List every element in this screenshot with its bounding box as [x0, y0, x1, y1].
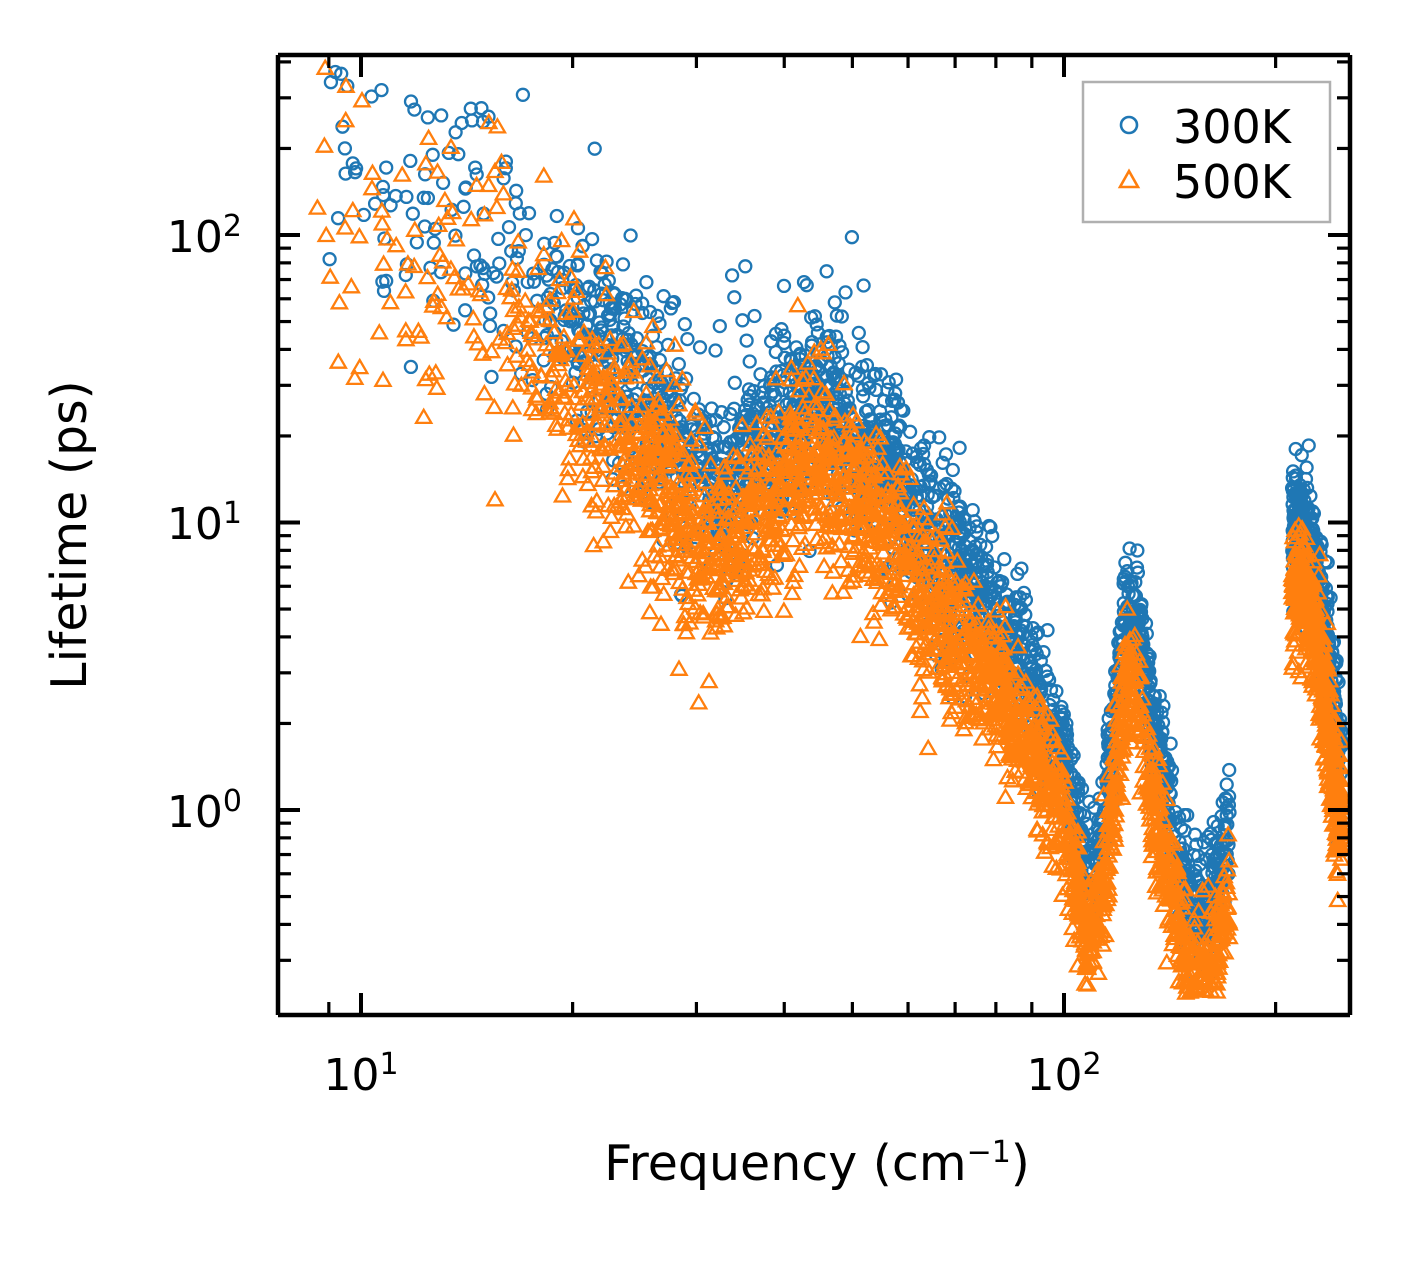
x-axis-title-sup: −1 — [967, 1135, 1011, 1170]
x-axis-title-base: Frequency (cm — [604, 1135, 967, 1192]
legend[interactable]: 300K 500K — [1083, 82, 1330, 222]
x-axis-title: Frequency (cm−1) — [604, 1135, 1030, 1192]
scatter-plot: 102 101 100 101 102 Frequency (cm−1) Lif… — [0, 0, 1408, 1265]
x-axis-title-close: ) — [1011, 1135, 1030, 1192]
y-axis-title: Lifetime (ps) — [41, 380, 98, 689]
legend-label-500K: 500K — [1173, 155, 1293, 209]
legend-label-300K: 300K — [1173, 100, 1293, 154]
figure-canvas: 102 101 100 101 102 Frequency (cm−1) Lif… — [0, 0, 1408, 1265]
